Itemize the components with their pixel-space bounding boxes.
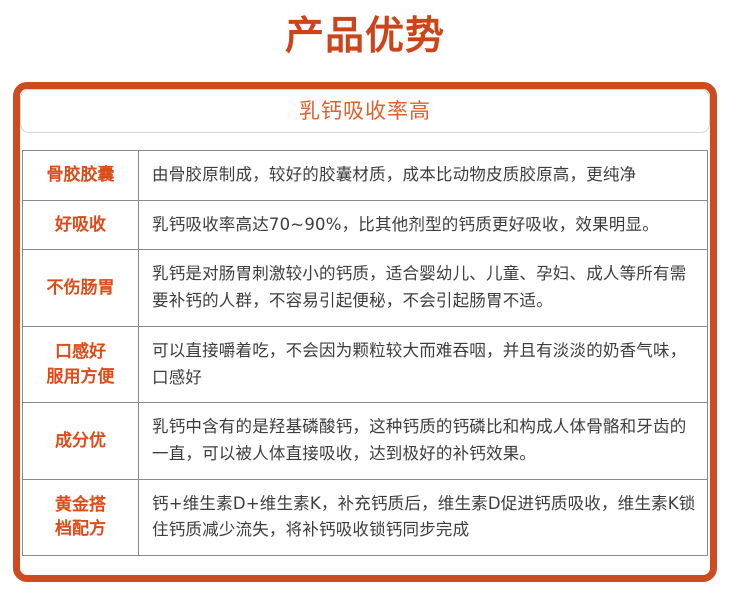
row-label: 好吸收 [23,200,139,250]
advantages-table: 骨胶胶囊 由骨胶原制成，较好的胶囊材质，成本比动物皮质胶原高，更纯净 好吸收 乳… [22,150,708,556]
product-advantages-page: 产品优势 乳钙吸收率高 骨胶胶囊 由骨胶原制成，较好的胶囊材质，成本比动物皮质胶… [0,0,730,589]
row-description: 乳钙是对肠胃刺激较小的钙质，适合婴幼儿、儿童、孕妇、成人等所有需要补钙的人群，不… [139,250,708,326]
row-label: 黄金搭 档配方 [23,479,139,555]
advantages-table-body: 骨胶胶囊 由骨胶原制成，较好的胶囊材质，成本比动物皮质胶原高，更纯净 好吸收 乳… [23,151,708,556]
row-description: 可以直接嚼着吃，不会因为颗粒较大而难吞咽，并且有淡淡的奶香气味，口感好 [139,326,708,402]
table-row: 不伤肠胃 乳钙是对肠胃刺激较小的钙质，适合婴幼儿、儿童、孕妇、成人等所有需要补钙… [23,250,708,326]
table-row: 成分优 乳钙中含有的是羟基磷酸钙，这种钙质的钙磷比和构成人体骨骼和牙齿的一直，可… [23,403,708,479]
subtitle-banner: 乳钙吸收率高 [20,89,710,133]
row-label: 成分优 [23,403,139,479]
table-row: 口感好 服用方便 可以直接嚼着吃，不会因为颗粒较大而难吞咽，并且有淡淡的奶香气味… [23,326,708,402]
row-label: 不伤肠胃 [23,250,139,326]
row-description: 钙+维生素D+维生素K，补充钙质后，维生素D促进钙质吸收，维生素K锁住钙质减少流… [139,479,708,555]
subtitle-text: 乳钙吸收率高 [299,101,431,122]
row-description: 由骨胶原制成，较好的胶囊材质，成本比动物皮质胶原高，更纯净 [139,151,708,201]
row-description: 乳钙中含有的是羟基磷酸钙，这种钙质的钙磷比和构成人体骨骼和牙齿的一直，可以被人体… [139,403,708,479]
row-label: 骨胶胶囊 [23,151,139,201]
table-row: 好吸收 乳钙吸收率高达70~90%，比其他剂型的钙质更好吸收，效果明显。 [23,200,708,250]
table-row: 骨胶胶囊 由骨胶原制成，较好的胶囊材质，成本比动物皮质胶原高，更纯净 [23,151,708,201]
page-title: 产品优势 [0,14,730,61]
row-description: 乳钙吸收率高达70~90%，比其他剂型的钙质更好吸收，效果明显。 [139,200,708,250]
table-row: 黄金搭 档配方 钙+维生素D+维生素K，补充钙质后，维生素D促进钙质吸收，维生素… [23,479,708,555]
row-label: 口感好 服用方便 [23,326,139,402]
